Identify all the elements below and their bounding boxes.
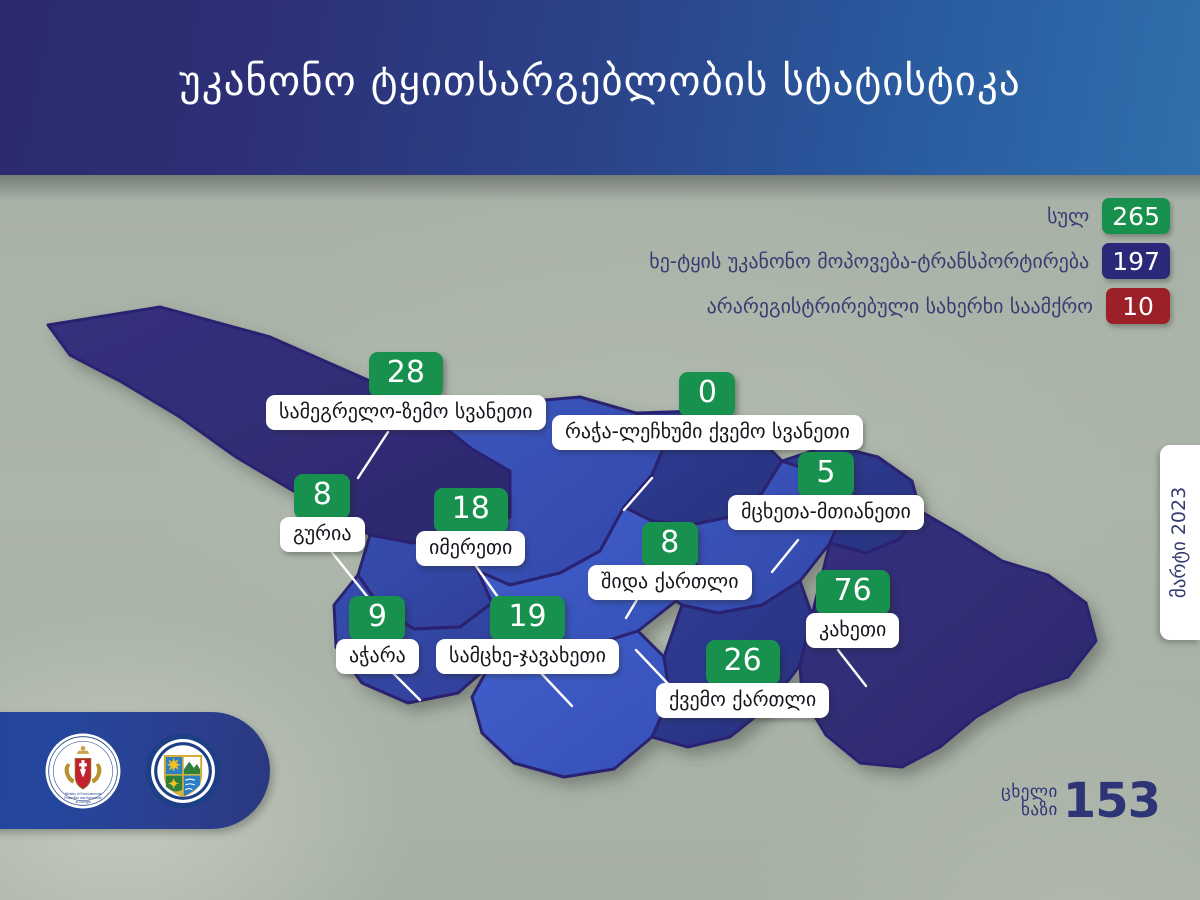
hotline: ცხელი ხაზი 153 (1001, 780, 1160, 823)
callout-value-imereti: 18 (434, 488, 508, 533)
callout-adjara[interactable]: 9 აჭარა (336, 596, 419, 674)
callout-imereti[interactable]: 18 იმერეთი (416, 488, 525, 566)
leader-samegrelo (358, 432, 388, 478)
callout-label-racha: რაჭა-ლეჩხუმი ქვემო სვანეთი (552, 415, 863, 450)
callout-guria[interactable]: 8 გურია (280, 474, 365, 552)
environmental-agency-emblem (144, 732, 222, 810)
callout-label-samtskhe: სამცხე-ჯავახეთი (436, 639, 619, 674)
leader-samtskhe (540, 672, 572, 706)
svg-text:of Georgia: of Georgia (75, 799, 90, 803)
hotline-number: 153 (1063, 780, 1160, 823)
leader-adjara (392, 672, 420, 700)
callout-value-samegrelo: 28 (369, 352, 443, 397)
callout-value-samtskhe: 19 (490, 596, 564, 641)
logo-bar: Ministry of Environmental Protection and… (0, 712, 270, 829)
hotline-words: ცხელი ხაზი (1001, 784, 1058, 819)
callout-shida-kartli[interactable]: 8 შიდა ქართლი (588, 522, 752, 600)
leader-kakheti (838, 650, 866, 686)
callout-samegrelo[interactable]: 28 სამეგრელო-ზემო სვანეთი (266, 352, 546, 430)
callout-label-mtskheta: მცხეთა-მთიანეთი (728, 495, 924, 530)
callout-value-mtskheta: 5 (798, 452, 854, 497)
leader-guria (330, 550, 370, 600)
hotline-line1: ცხელი (1001, 784, 1058, 801)
callout-mtskheta[interactable]: 5 მცხეთა-მთიანეთი (728, 452, 924, 530)
callout-value-guria: 8 (294, 474, 350, 519)
ministry-of-environmental-protection-and-agriculture-emblem: Ministry of Environmental Protection and… (44, 732, 122, 810)
period-tab: მარტი 2023 (1160, 445, 1200, 640)
callout-value-racha: 0 (679, 372, 735, 417)
callout-samtskhe[interactable]: 19 სამცხე-ჯავახეთი (436, 596, 619, 674)
hotline-line2: ხაზი (1001, 802, 1058, 819)
callout-label-kvemo-kartli: ქვემო ქართლი (656, 683, 829, 718)
callout-label-guria: გურია (280, 517, 365, 552)
leader-mtskheta (772, 540, 798, 572)
period-label: მარტი 2023 (1171, 487, 1190, 598)
callout-label-samegrelo: სამეგრელო-ზემო სვანეთი (266, 395, 546, 430)
callout-label-imereti: იმერეთი (416, 531, 525, 566)
callout-value-adjara: 9 (349, 596, 405, 641)
callout-value-kvemo-kartli: 26 (706, 640, 780, 685)
callout-label-adjara: აჭარა (336, 639, 419, 674)
callout-value-shida-kartli: 8 (642, 522, 698, 567)
callout-value-kakheti: 76 (816, 570, 890, 615)
callout-kvemo-kartli[interactable]: 26 ქვემო ქართლი (656, 640, 829, 718)
leader-racha (624, 478, 652, 510)
callout-racha[interactable]: 0 რაჭა-ლეჩხუმი ქვემო სვანეთი (552, 372, 863, 450)
callout-kakheti[interactable]: 76 კახეთი (806, 570, 899, 648)
